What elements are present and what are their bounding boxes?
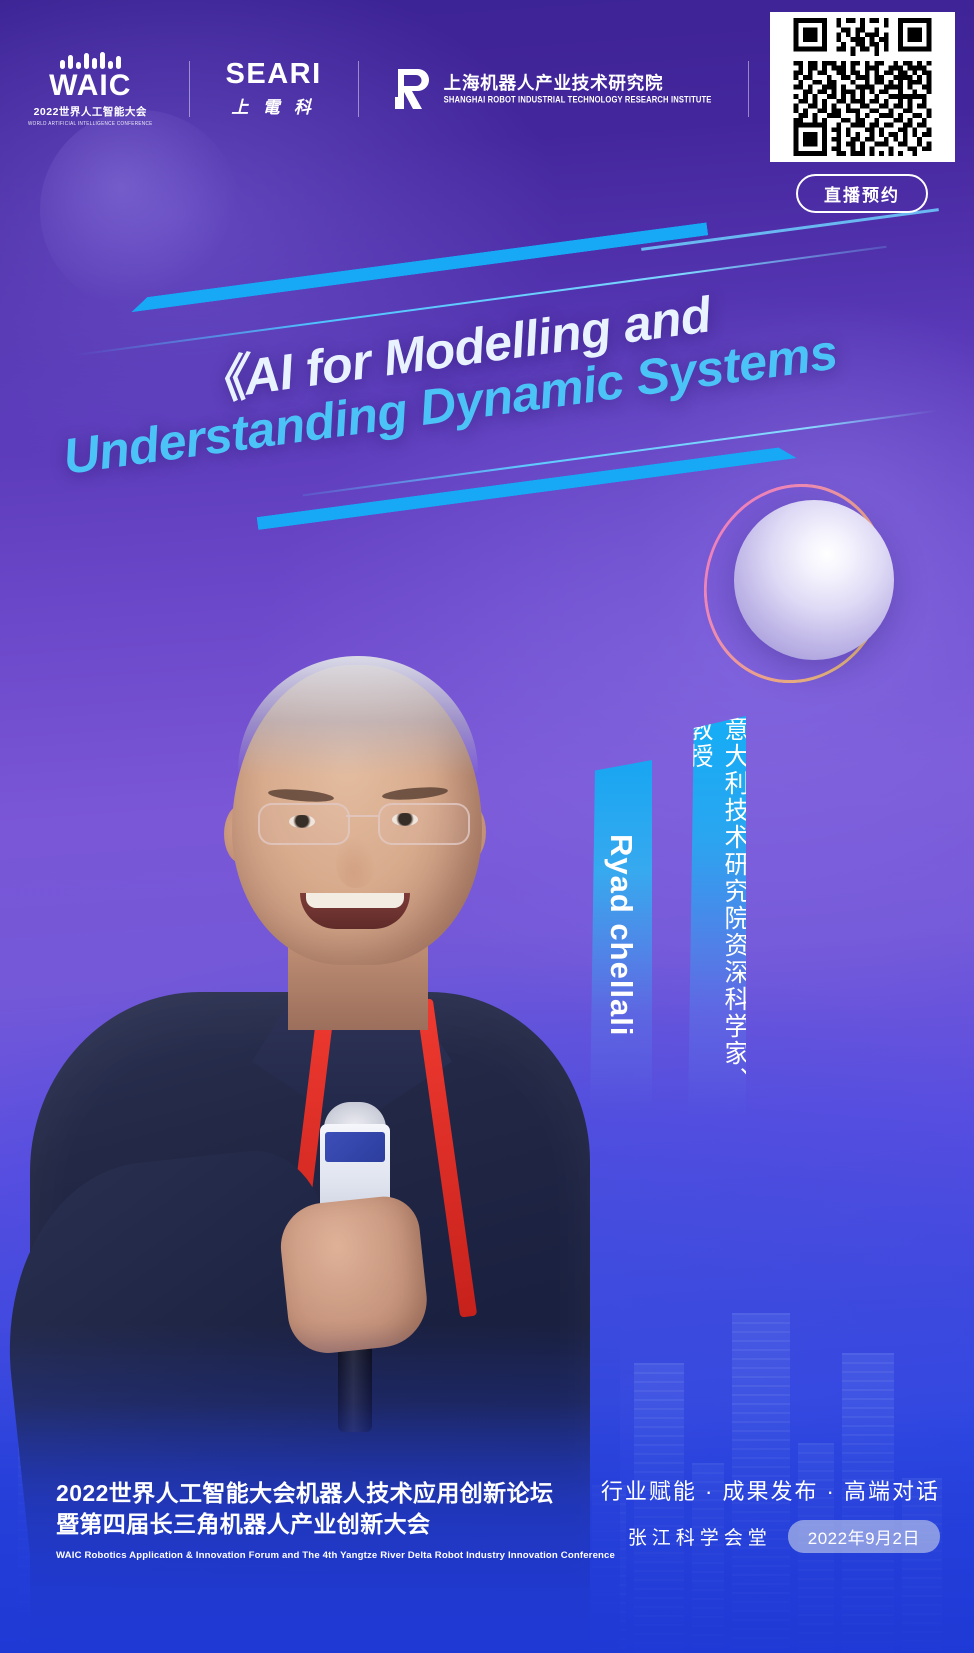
poster-root: WAIC 2022世界人工智能大会 WORLD ARTIFICIAL INTEL… — [0, 0, 974, 1653]
footer-event-block: 2022世界人工智能大会机器人技术应用创新论坛 暨第四届长三角机器人产业创新大会… — [56, 1478, 615, 1561]
event-title-english: WAIC Robotics Application & Innovation F… — [56, 1550, 615, 1561]
background-glow-left — [40, 110, 240, 310]
waic-chinese-name: 2022世界人工智能大会 — [34, 104, 147, 119]
logo-divider-3 — [748, 61, 749, 117]
logo-divider-1 — [189, 61, 190, 117]
sphere-icon — [734, 500, 894, 660]
event-title-line-1: 2022世界人工智能大会机器人技术应用创新论坛 — [56, 1478, 615, 1509]
speaker-title: 意大利技术研究院资深科学家、教授 — [681, 716, 753, 1116]
logo-seari: SEARI 上 電 科 — [226, 60, 322, 118]
event-slogan: 行业赋能 · 成果发布 · 高端对话 — [601, 1474, 940, 1506]
srit-english-name: SHANGHAI ROBOT INDUSTRIAL TECHNOLOGY RES… — [444, 95, 712, 106]
waic-wordmark: WAIC — [49, 72, 131, 101]
logo-waic: WAIC 2022世界人工智能大会 WORLD ARTIFICIAL INTEL… — [28, 52, 153, 126]
speaker-name: Ryad chellali — [603, 834, 639, 1037]
sphere-orbit-decoration — [706, 482, 926, 682]
live-booking-button[interactable]: 直播预约 — [796, 174, 928, 213]
event-date-badge: 2022年9月2日 — [788, 1520, 940, 1553]
qr-block[interactable]: 直播预约 — [766, 12, 958, 213]
speaker-title-panel: 意大利技术研究院资深科学家、教授 — [688, 716, 746, 1116]
srit-chinese-name: 上海机器人产业技术研究院 — [444, 73, 712, 93]
qr-code-image — [770, 12, 955, 162]
logo-srit: 上海机器人产业技术研究院 SHANGHAI ROBOT INDUSTRIAL T… — [395, 67, 712, 111]
speaker-nose — [336, 836, 376, 888]
waic-english-name: WORLD ARTIFICIAL INTELLIGENCE CONFERENCE — [28, 120, 153, 126]
event-title-line-2: 暨第四届长三角机器人产业创新大会 — [56, 1509, 615, 1540]
waic-bars-icon — [60, 52, 121, 69]
microphone-label — [325, 1132, 385, 1162]
seari-chinese-name: 上 電 科 — [231, 93, 316, 118]
srit-mark-icon — [395, 67, 435, 111]
footer-bar: 2022世界人工智能大会机器人技术应用创新论坛 暨第四届长三角机器人产业创新大会… — [0, 1403, 974, 1653]
logo-divider-2 — [358, 61, 359, 117]
speaker-name-panel: Ryad chellali — [590, 760, 652, 1110]
seari-wordmark: SEARI — [226, 60, 322, 89]
footer-info-block: 行业赋能 · 成果发布 · 高端对话 张江科学会堂 2022年9月2日 — [601, 1474, 940, 1553]
speaker-hair — [238, 656, 478, 776]
sponsor-logo-bar: WAIC 2022世界人工智能大会 WORLD ARTIFICIAL INTEL… — [28, 52, 872, 126]
event-venue: 张江科学会堂 — [628, 1523, 772, 1550]
